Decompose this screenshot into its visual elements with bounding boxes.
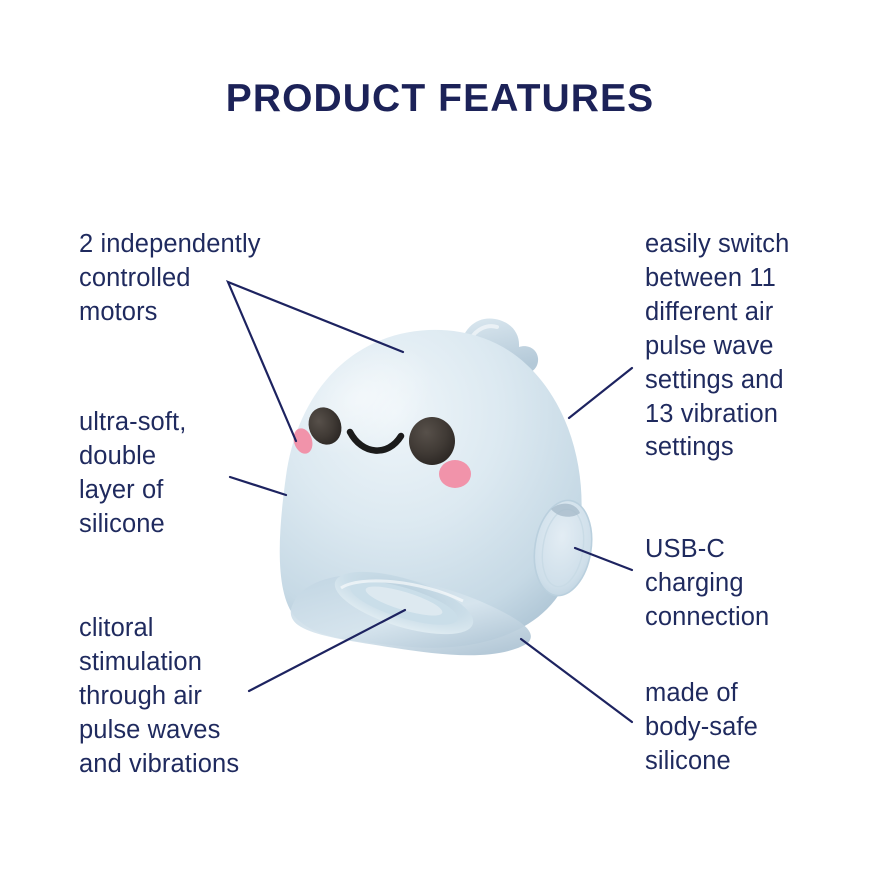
leader-line-bodysafe <box>521 639 632 722</box>
leader-line-silicone <box>230 477 286 495</box>
leader-line-settings <box>569 368 632 418</box>
leader-lines <box>0 0 880 880</box>
leader-line-usbc <box>575 548 632 570</box>
leader-line-motors <box>228 282 403 441</box>
leader-line-clitoral <box>249 610 405 691</box>
product-features-infographic: PRODUCT FEATURES <box>0 0 880 880</box>
